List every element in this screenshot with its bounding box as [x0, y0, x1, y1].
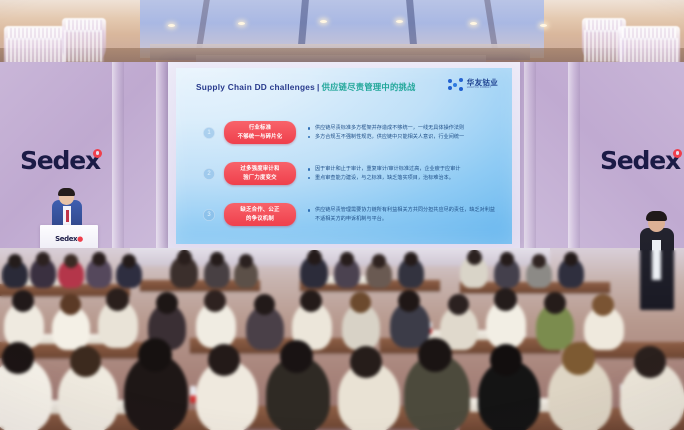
audience-head	[562, 342, 595, 375]
audience-head	[60, 294, 81, 315]
row-label-pill: 缺乏合作、公正 的争议机制	[224, 203, 296, 226]
audience-head	[467, 250, 482, 265]
speaker-tie	[66, 210, 69, 222]
slide-company-logo: 华友钴业 HUAYOU COBALT	[448, 78, 498, 91]
audience-head	[92, 252, 106, 266]
row-bullets: 供应链尽责管理需要协力链所有利益相关方共同分担共应尽的责任，缺乏对利益不适相关方…	[307, 206, 512, 223]
slide-title-chinese: 供应链尽责管理中的挑战	[322, 82, 416, 92]
row-number-badge: 3	[203, 209, 215, 221]
audience-head	[340, 252, 354, 266]
slide-title-separator: |	[315, 82, 322, 92]
pill-line-1: 行业标准	[224, 124, 296, 132]
bullet-item: 因于审计和止于审计，重复审计/审计标准过高，企业疲于应审计	[307, 165, 498, 173]
audience	[0, 250, 684, 430]
wall-pillar	[112, 62, 124, 262]
downlight	[168, 24, 175, 27]
sedex-swirl-icon	[93, 149, 102, 158]
audience-head	[70, 346, 101, 377]
audience-head	[204, 290, 226, 312]
audience-head	[544, 292, 566, 314]
audience-head	[350, 346, 382, 378]
pill-line-1: 缺乏合作、公正	[224, 206, 296, 214]
sedex-wordmark: Sedex	[20, 146, 100, 175]
slide-title: Supply Chain DD challenges|供应链尽责管理中的挑战	[196, 81, 416, 93]
slide-row: 2 过多强度审计和 验厂力度变交 因于审计和止于审计，重复审计/审计标准过高，企…	[176, 153, 512, 194]
audience-head	[532, 254, 546, 268]
podium-logo: Sedex●	[55, 235, 83, 243]
company-name-en: HUAYOU COBALT	[467, 87, 498, 90]
audience-head	[36, 252, 50, 266]
bullet-item: 供应链尽责标准多方框架并存造成不够统一，一线无具体操作法则	[307, 124, 498, 132]
bullet-item: 多方合规互不强制性规范，供应链中只能相关人意识，行业间统一	[307, 133, 498, 141]
wall-pillar	[524, 62, 536, 262]
downlight	[396, 20, 403, 23]
audience-head	[300, 290, 322, 312]
pill-line-1: 过多强度审计和	[224, 165, 296, 173]
audience-head	[398, 290, 420, 312]
audience-head	[280, 340, 313, 373]
audience-head	[64, 254, 78, 268]
sedex-wordmark: Sedex	[600, 146, 680, 175]
audience-head	[122, 254, 136, 268]
podium-swirl-icon: ●	[77, 235, 83, 243]
audience-head	[210, 252, 224, 266]
presentation-slide: Supply Chain DD challenges|供应链尽责管理中的挑战 华…	[176, 68, 512, 244]
audience-head	[106, 288, 129, 311]
audience-head	[490, 344, 522, 376]
audience-head	[208, 344, 240, 376]
audience-head	[177, 250, 192, 265]
pill-line-2: 的争议机制	[224, 215, 296, 223]
row-number-badge: 1	[203, 127, 215, 139]
audience-head	[634, 346, 666, 378]
row-bullets: 供应链尽责标准多方框架并存造成不够统一，一线无具体操作法则 多方合规互不强制性规…	[307, 124, 512, 141]
audience-head	[592, 294, 614, 316]
speaker-hair	[58, 188, 75, 196]
audience-head	[138, 338, 172, 372]
bullet-item: 重点审查能力建设，与之标准，缺乏落实项目，治标难治本。	[307, 174, 498, 182]
bullet-item: 供应链尽责管理需要协力链所有利益相关方共同分担共应尽的责任，缺乏对利益不适相关方…	[307, 206, 498, 223]
audience-head	[500, 252, 514, 266]
row-number-badge: 2	[203, 168, 215, 180]
audience-head	[418, 338, 452, 372]
standing-attendee-shirt	[652, 240, 661, 280]
audience-head	[350, 292, 371, 313]
audience-head	[8, 254, 22, 268]
pill-line-2: 验厂力度变交	[224, 174, 296, 182]
wall-pillar	[156, 62, 168, 262]
slide-rows: 1 行业标准 不够统一与碎片化 供应链尽责标准多方框架并存造成不够统一，一线无具…	[176, 112, 512, 235]
downlight	[320, 20, 327, 23]
audience-head	[494, 288, 517, 311]
conference-photo: Sedex Sedex Supply Chain DD challenges|供…	[0, 0, 684, 430]
company-name-block: 华友钴业 HUAYOU COBALT	[467, 79, 498, 90]
audience-head	[254, 294, 275, 315]
audience-head	[564, 252, 578, 266]
sedex-wall-logo-right: Sedex	[600, 146, 682, 175]
row-label-pill: 行业标准 不够统一与碎片化	[224, 121, 296, 144]
standing-attendee-hair	[646, 211, 667, 221]
wall-pillar	[568, 62, 580, 262]
downlight	[238, 22, 245, 25]
downlight	[470, 22, 477, 25]
audience-head	[404, 252, 418, 266]
downlight	[540, 24, 547, 27]
dot-cluster-icon	[448, 78, 464, 91]
pill-line-2: 不够统一与碎片化	[224, 133, 296, 141]
chandelier-left-inner	[62, 18, 106, 64]
audience-head	[307, 250, 322, 265]
podium-wordmark: Sedex	[55, 235, 77, 243]
slide-row: 3 缺乏合作、公正 的争议机制 供应链尽责管理需要协力链所有利益相关方共同分担共…	[176, 194, 512, 235]
audience-head	[448, 294, 469, 315]
sedex-swirl-icon	[673, 149, 682, 158]
audience-head	[156, 292, 178, 314]
slide-title-english: Supply Chain DD challenges	[196, 82, 315, 92]
audience-head	[12, 290, 34, 312]
row-bullets: 因于审计和止于审计，重复审计/审计标准过高，企业疲于应审计 重点审查能力建设，与…	[307, 165, 512, 182]
audience-head	[372, 254, 386, 268]
slide-row: 1 行业标准 不够统一与碎片化 供应链尽责标准多方框架并存造成不够统一，一线无具…	[176, 112, 512, 153]
sedex-wall-logo-left: Sedex	[20, 146, 102, 175]
row-label-pill: 过多强度审计和 验厂力度变交	[224, 162, 296, 185]
audience-head	[239, 254, 253, 268]
audience-head	[2, 342, 34, 374]
